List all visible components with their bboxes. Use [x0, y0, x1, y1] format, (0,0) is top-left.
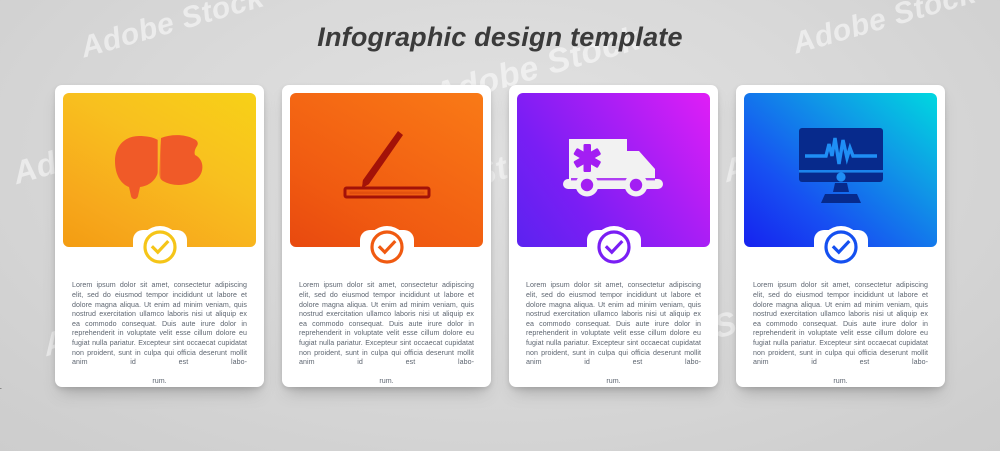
card-2-body-text: Lorem ipsum dolor sit amet, consectetur … [299, 281, 474, 377]
card-1-check-badge[interactable] [139, 226, 181, 268]
card-4[interactable]: Lorem ipsum dolor sit amet, consectetur … [736, 85, 945, 387]
card-3-icon-tile [517, 93, 710, 247]
card-1-body-text: Lorem ipsum dolor sit amet, consectetur … [72, 281, 247, 377]
infographic-canvas: Adobe Stock Adobe Stock Adobe Stock Adob… [0, 0, 1000, 451]
card-3[interactable]: Lorem ipsum dolor sit amet, consectetur … [509, 85, 718, 387]
card-4-icon-tile [744, 93, 937, 247]
card-3-body-last-line: rum. [526, 377, 701, 387]
card-3-check-badge[interactable] [593, 226, 635, 268]
stock-id-watermark: Adobe Stock | #435171400 [0, 335, 2, 443]
card-1[interactable]: Lorem ipsum dolor sit amet, consectetur … [55, 85, 264, 387]
card-row: Lorem ipsum dolor sit amet, consectetur … [55, 85, 945, 390]
card-2-check-badge[interactable] [366, 226, 408, 268]
card-2[interactable]: Lorem ipsum dolor sit amet, consectetur … [282, 85, 491, 387]
card-2-icon-tile [290, 93, 483, 247]
card-2-body-last-line: rum. [299, 377, 474, 387]
card-4-check-badge[interactable] [820, 226, 862, 268]
scalpel-icon [332, 121, 442, 213]
card-1-body-last-line: rum. [72, 377, 247, 387]
check-icon [142, 229, 178, 265]
page-title: Infographic design template [0, 22, 1000, 53]
card-4-body-last-line: rum. [753, 377, 928, 387]
card-1-icon-tile [63, 93, 256, 247]
liver-icon [105, 121, 215, 213]
card-3-body-text: Lorem ipsum dolor sit amet, consectetur … [526, 281, 701, 377]
card-4-body-text: Lorem ipsum dolor sit amet, consectetur … [753, 281, 928, 377]
check-icon [823, 229, 859, 265]
ambulance-icon [559, 121, 669, 213]
check-icon [369, 229, 405, 265]
check-icon [596, 229, 632, 265]
ecg-monitor-icon [786, 121, 896, 213]
